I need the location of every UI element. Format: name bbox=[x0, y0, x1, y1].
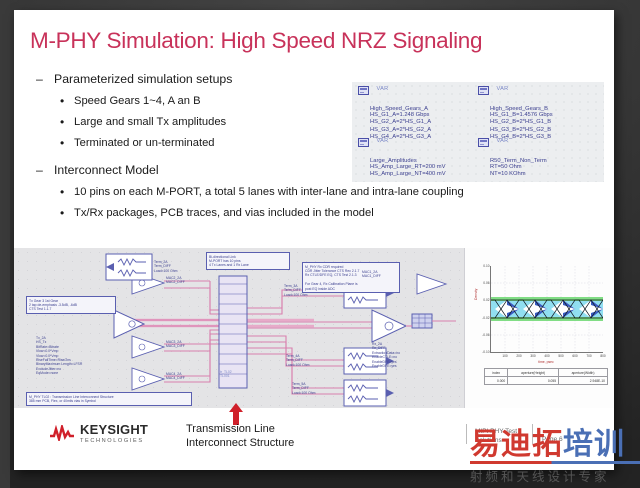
var-icon bbox=[358, 138, 369, 147]
var-line: HS_G2_B=2*HS_G1_B bbox=[490, 119, 553, 127]
schematic-label-tline: tr_TL02 TL001 bbox=[220, 370, 232, 379]
var-name: High_Speed_Gears_A bbox=[370, 106, 431, 112]
dot-marker: • bbox=[60, 136, 64, 150]
eye-x-tick: 700 bbox=[586, 352, 591, 358]
cell-width: 2.948E-10 bbox=[559, 377, 608, 385]
schematic-label-mac4: MAC4_2A MAC4_DIFF bbox=[166, 372, 185, 381]
bullet-item: • Terminated or un-terminated bbox=[36, 137, 376, 149]
footer-divider-right bbox=[532, 424, 533, 444]
schematic-label-mac3: MAC3_2A MAC3_DIFF bbox=[166, 340, 185, 349]
eye-x-tick: 400 bbox=[544, 352, 549, 358]
eye-x-tick: 500 bbox=[558, 352, 563, 358]
col-header-width: aperture(Width) bbox=[559, 369, 608, 377]
var-line: HS_G3_A=2*HS_G2_A bbox=[370, 127, 431, 135]
dot-marker: • bbox=[60, 115, 64, 129]
var-line: HS_G2_A=2*HS_G1_A bbox=[370, 119, 431, 127]
var-line: HS_Amp_Large_RT=200 mV bbox=[370, 164, 446, 172]
page-number: Page 6 bbox=[542, 436, 563, 445]
eye-x-tick: 200 bbox=[516, 352, 521, 358]
eye-x-tick: 600 bbox=[572, 352, 577, 358]
var-line: HS_Amp_Large_NT=400 mV bbox=[370, 171, 446, 179]
eye-trace-svg bbox=[491, 266, 603, 352]
dot-marker: • bbox=[60, 185, 64, 199]
keysight-logo: KEYSIGHT TECHNOLOGIES bbox=[49, 422, 148, 445]
eye-y-tick: 0.06 bbox=[483, 281, 491, 285]
bullet-text: Tx/Rx packages, PCB traces, and vias inc… bbox=[74, 207, 374, 219]
transmission-line-callout: Transmission Line Interconnect Structure bbox=[186, 422, 294, 450]
eye-y-tick: -0.06 bbox=[482, 333, 491, 337]
eye-diagram: Density 0.10 0.06 0.02 -0.02 -0.06 -0.10… bbox=[476, 260, 614, 408]
schematic-note-rx-cdr: M_PHY Rx CDR required CDR Jitter Toleran… bbox=[302, 262, 400, 293]
footer-solution-name: MIPI PHY Test Solutions bbox=[475, 428, 517, 445]
footer-line-2: Solutions bbox=[475, 437, 517, 446]
var-line: NT=10 KOhm bbox=[490, 171, 547, 179]
schematic-label-mac2: MAC2_2A MAC2_DIFF bbox=[166, 276, 185, 285]
var-name: High_Speed_Gears_B bbox=[490, 106, 553, 112]
eye-plot-area: 0.10 0.06 0.02 -0.02 -0.06 -0.10 100 200… bbox=[490, 266, 603, 353]
eye-x-axis-label: time, psec bbox=[538, 360, 553, 364]
bullet-text: Interconnect Model bbox=[54, 163, 159, 177]
bullet-text: Parameterized simulation setups bbox=[54, 72, 232, 86]
var-line: HS_G1_B=1.4576 Gbps bbox=[490, 112, 553, 120]
bullet-item: – Interconnect Model bbox=[36, 163, 376, 177]
table-header-row: index aperture(Height) aperture(Width) bbox=[485, 369, 608, 377]
schematic-label-term1: Term_2A Term_DIFF Load=100 Ohm bbox=[154, 260, 177, 273]
bullet-item: – Parameterized simulation setups bbox=[36, 72, 376, 86]
col-header-height: aperture(Height) bbox=[508, 369, 559, 377]
eye-measurement-table: index aperture(Height) aperture(Width) 0… bbox=[484, 368, 608, 385]
footer-divider-left bbox=[466, 424, 467, 444]
var-block-gears-b: VAR High_Speed_Gears_B HS_G1_B=1.4576 Gb… bbox=[478, 86, 553, 142]
var-line: RT=50 Ohm bbox=[490, 164, 547, 172]
schematic-label-mac1: MAC1_2A MAC1_DIFF bbox=[362, 270, 381, 279]
schematic-label-rx: Rx_2A Rx_DIFF ExtractionData=no EnableCT… bbox=[372, 342, 400, 368]
eye-x-tick: 300 bbox=[530, 352, 535, 358]
col-header-index: index bbox=[485, 369, 508, 377]
var-tag: VAR bbox=[376, 86, 388, 92]
var-name: R50_Term_Non_Term bbox=[490, 158, 547, 164]
bullet-list: – Parameterized simulation setups • Spee… bbox=[36, 72, 376, 228]
bullet-item: • Speed Gears 1~4, A an B bbox=[36, 95, 376, 107]
var-line: HS_G3_B=2*HS_G2_B bbox=[490, 127, 553, 135]
bullet-text: Terminated or un-terminated bbox=[74, 137, 215, 149]
var-tag: VAR bbox=[376, 138, 388, 144]
dash-marker: – bbox=[36, 163, 43, 177]
schematic-note-tx-gear: Tx Gear 3 1st Gear 2 tap de-emphasis -3.… bbox=[26, 296, 116, 314]
logo-name: KEYSIGHT bbox=[80, 422, 148, 437]
var-parameter-panel: VAR High_Speed_Gears_A HS_G1_A=1.248 Gbp… bbox=[352, 82, 604, 182]
schematic-note-mport-tline: M_PHY TL02 : Transmission Line Interconn… bbox=[26, 392, 192, 406]
schematic-label-term2: Term_3A Term_DIFF Load=100 Ohm bbox=[284, 284, 307, 297]
eye-x-tick: 800 bbox=[600, 352, 605, 358]
var-icon bbox=[478, 86, 489, 95]
callout-line-2: Interconnect Structure bbox=[186, 436, 294, 450]
dot-marker: • bbox=[60, 206, 64, 220]
var-block-large-amplitudes: VAR Large_Amplitudes HS_Amp_Large_RT=200… bbox=[358, 138, 446, 179]
var-block-termination: VAR R50_Term_Non_Term RT=50 Ohm NT=10 KO… bbox=[478, 138, 547, 179]
dot-marker: • bbox=[60, 94, 64, 108]
keysight-wordmark: KEYSIGHT TECHNOLOGIES bbox=[80, 422, 148, 445]
bullet-text: Large and small Tx amplitudes bbox=[74, 116, 226, 128]
bullet-item: • Tx/Rx packages, PCB traces, and vias i… bbox=[36, 207, 376, 219]
bullet-item: • 10 pins on each M-PORT, a total 5 lane… bbox=[36, 186, 376, 198]
logo-subtitle: TECHNOLOGIES bbox=[80, 439, 148, 445]
schematic-label-tx-port: Tx_2A HS_Tx BitRate=Bitrate Vlow=0.0*Vmp… bbox=[36, 336, 82, 376]
slide-canvas: M-PHY Simulation: High Speed NRZ Signali… bbox=[14, 10, 614, 470]
schematic-label-term3: Term_4A Term_DIFF Load=100 Ohm bbox=[286, 354, 309, 367]
footer-line-1: MIPI PHY Test bbox=[475, 428, 517, 437]
keysight-wave-icon bbox=[49, 425, 75, 441]
var-icon bbox=[478, 138, 489, 147]
cell-index: 0.000 bbox=[485, 377, 508, 385]
bullet-text: Speed Gears 1~4, A an B bbox=[74, 95, 201, 107]
var-block-gears-a: VAR High_Speed_Gears_A HS_G1_A=1.248 Gbp… bbox=[358, 86, 431, 142]
page-title: M-PHY Simulation: High Speed NRZ Signali… bbox=[30, 28, 482, 54]
eye-y-tick: -0.02 bbox=[482, 316, 491, 320]
bullet-item: • Large and small Tx amplitudes bbox=[36, 116, 376, 128]
eye-x-tick: 100 bbox=[502, 352, 507, 358]
schematic-note-bidir-link: Bi-directional Link M-PORT has 10 pins 4… bbox=[206, 252, 290, 270]
callout-line-1: Transmission Line bbox=[186, 422, 294, 436]
table-row: 0.000 0.055 2.948E-10 bbox=[485, 377, 608, 385]
eye-y-tick: 0.10 bbox=[483, 264, 491, 268]
var-tag: VAR bbox=[496, 86, 508, 92]
bullet-text: 10 pins on each M-PORT, a total 5 lanes … bbox=[74, 186, 464, 198]
var-line: HS_G1_A=1.248 Gbps bbox=[370, 112, 431, 120]
var-icon bbox=[358, 86, 369, 95]
dash-marker: – bbox=[36, 72, 43, 86]
schematic-label-term4: Term_5A Term_DIFF Load=100 Ohm bbox=[292, 382, 315, 395]
var-tag: VAR bbox=[496, 138, 508, 144]
eye-y-tick: 0.02 bbox=[483, 298, 491, 302]
eye-y-axis-label: Density bbox=[474, 289, 478, 300]
cell-height: 0.055 bbox=[508, 377, 559, 385]
eye-y-tick: -0.10 bbox=[482, 350, 491, 354]
